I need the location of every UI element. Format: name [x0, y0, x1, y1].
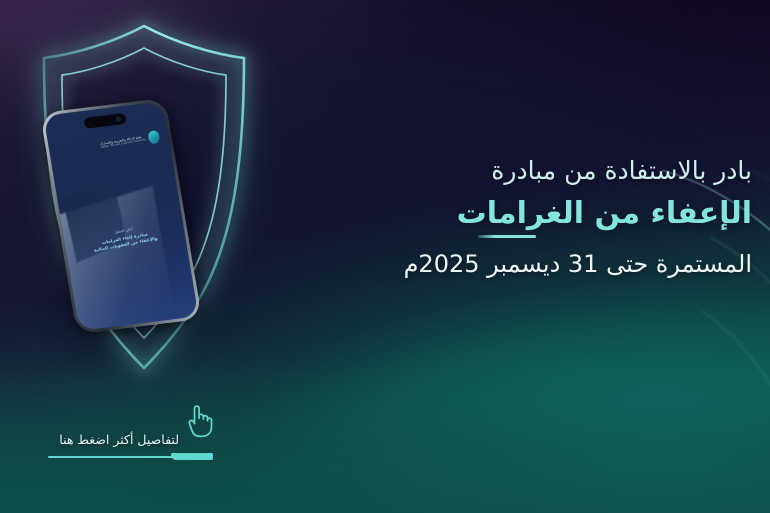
- headline-line-2-wrapper: الإعفاء من الغرامات: [272, 192, 752, 236]
- cta-underline-cap: [171, 453, 213, 460]
- cta-label: لتفاصيل أكثر اضغط هنا: [59, 432, 179, 448]
- cta-button[interactable]: لتفاصيل أكثر اضغط هنا: [48, 404, 213, 466]
- dynamic-island: [83, 113, 127, 129]
- headline-block: بادر بالاستفادة من مبادرة الإعفاء من الغ…: [272, 152, 752, 284]
- front-camera-icon: [116, 116, 122, 122]
- headline-swash-underline-icon: [478, 235, 536, 238]
- headline-line-3: المستمرة حتى 31 ديسمبر 2025م: [272, 244, 752, 284]
- ztca-logo: هيئة الزكاة والضريبة والجمارك Zakat, Tax…: [81, 130, 160, 156]
- pointing-hand-cursor-icon: [183, 402, 213, 438]
- headline-line-1: بادر بالاستفادة من مبادرة: [272, 152, 752, 190]
- ztca-logo-mark-icon: [147, 130, 160, 145]
- headline-line-2: الإعفاء من الغرامات: [272, 192, 752, 236]
- promo-banner: هيئة الزكاة والضريبة والجمارك Zakat, Tax…: [0, 0, 770, 513]
